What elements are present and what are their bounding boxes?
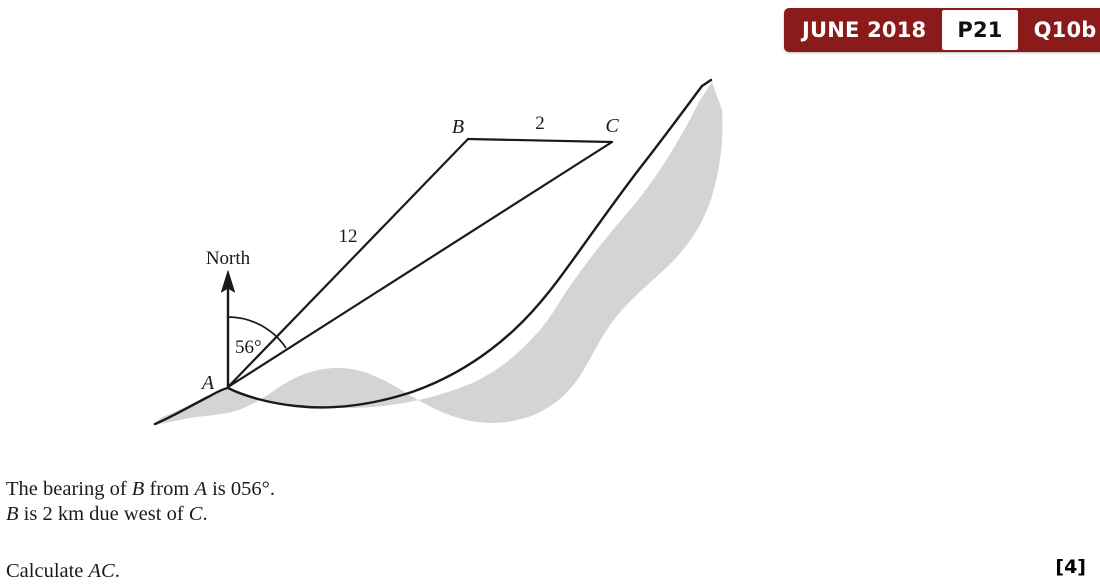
line1-pre: The bearing of bbox=[6, 478, 132, 500]
marks-allocation: [4] bbox=[1055, 556, 1086, 578]
line2-post: . bbox=[202, 503, 207, 525]
question-line-2: B is 2 km due west of C. bbox=[6, 502, 275, 527]
calculate-post: . bbox=[115, 560, 120, 582]
line-bc bbox=[468, 139, 612, 142]
north-label: North bbox=[206, 248, 251, 269]
point-b-label: B bbox=[452, 116, 464, 138]
bearing-diagram: North 56° A B C 12 2 bbox=[0, 0, 1100, 470]
line2-mid: is 2 km due west of bbox=[19, 503, 189, 525]
question-line-1: The bearing of B from A is 056°. bbox=[6, 477, 275, 502]
line2-var-c: C bbox=[189, 503, 203, 525]
line2-var-b: B bbox=[6, 503, 19, 525]
side-ab-length-label: 12 bbox=[339, 226, 358, 247]
side-bc-length-label: 2 bbox=[535, 113, 545, 134]
calculate-var-ac: AC bbox=[89, 560, 115, 582]
line1-var-a: A bbox=[194, 478, 207, 500]
line1-var-b: B bbox=[132, 478, 145, 500]
point-c-label: C bbox=[605, 115, 619, 137]
line-ab bbox=[228, 139, 468, 387]
point-a-label: A bbox=[200, 372, 215, 394]
line1-post: is 056°. bbox=[207, 478, 275, 500]
question-statement: The bearing of B from A is 056°. B is 2 … bbox=[6, 477, 275, 527]
calculate-pre: Calculate bbox=[6, 560, 89, 582]
line1-mid: from bbox=[144, 478, 194, 500]
calculate-instruction: Calculate AC. bbox=[6, 560, 120, 583]
bearing-angle-label: 56° bbox=[235, 337, 262, 358]
